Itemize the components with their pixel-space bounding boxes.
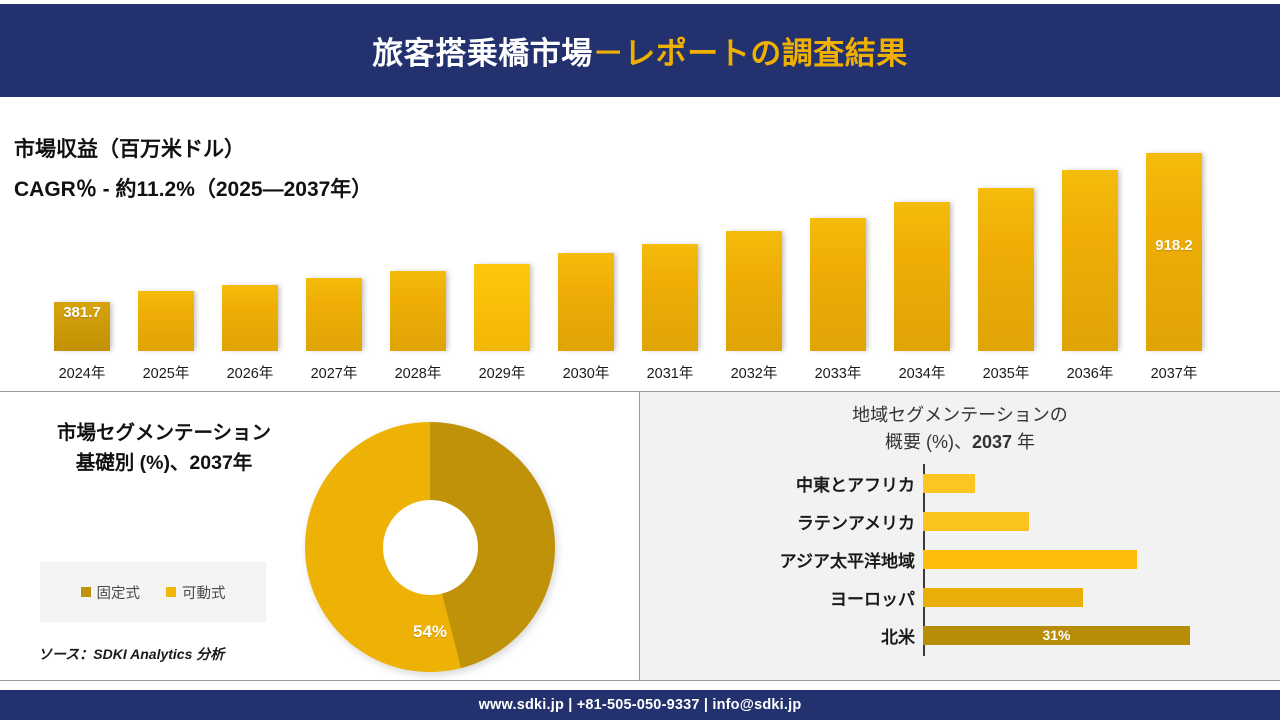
region-row: 北米31% <box>640 616 1280 654</box>
revenue-bar-slot <box>376 146 460 351</box>
footer-contact-text: www.sdki.jp | +81-505-050-9337 | info@sd… <box>479 697 802 713</box>
donut-hole <box>383 500 478 595</box>
revenue-bar[interactable] <box>390 271 446 351</box>
revenue-bar-slot: 381.7 <box>40 146 124 351</box>
region-bar-value: 31% <box>923 626 1190 645</box>
legend-label-fixed: 固定式 <box>97 582 141 603</box>
region-label: ラテンアメリカ <box>640 509 923 534</box>
region-bar[interactable] <box>923 588 1083 607</box>
revenue-bar-label: 2029年 <box>460 362 544 383</box>
revenue-bar-label: 2035年 <box>964 362 1048 383</box>
region-panel: 地域セグメンテーションの 概要 (%)、2037 年 中東とアフリカラテンアメリ… <box>640 392 1280 681</box>
region-bar-wrap <box>923 578 1280 616</box>
revenue-bar-slot <box>544 146 628 351</box>
revenue-bar-slot <box>292 146 376 351</box>
revenue-bar-label: 2034年 <box>880 362 964 383</box>
region-label: 中東とアフリカ <box>640 471 923 496</box>
region-label: アジア太平洋地域 <box>640 547 923 572</box>
region-title-line2: 概要 (%)、2037 年 <box>640 429 1280 456</box>
revenue-bar-label: 2024年 <box>40 362 124 383</box>
revenue-bar[interactable] <box>138 291 194 351</box>
revenue-bar-label: 2028年 <box>376 362 460 383</box>
region-title: 地域セグメンテーションの 概要 (%)、2037 年 <box>640 402 1280 456</box>
region-title-prefix: 概要 (%)、 <box>885 432 972 452</box>
region-row: 中東とアフリカ <box>640 464 1280 502</box>
revenue-bar[interactable]: 918.2 <box>1146 153 1202 351</box>
page-title-accent: －レポートの調査結果 <box>593 36 908 71</box>
revenue-bar-slot <box>712 146 796 351</box>
revenue-bar-slot <box>1048 146 1132 351</box>
region-title-line1: 地域セグメンテーションの <box>640 402 1280 429</box>
revenue-bar[interactable] <box>1062 170 1118 351</box>
revenue-bar-value: 381.7 <box>54 304 110 321</box>
page-header: 旅客搭乗橋市場－レポートの調査結果 <box>0 4 1280 97</box>
region-bar-chart: 中東とアフリカラテンアメリカアジア太平洋地域ヨーロッパ北米31% <box>640 464 1280 664</box>
revenue-bar[interactable] <box>642 244 698 351</box>
segmentation-title-line2: 基礎別 (%)、2037年 <box>14 448 314 478</box>
legend-swatch-icon <box>166 587 176 597</box>
segmentation-title: 市場セグメンテーション 基礎別 (%)、2037年 <box>14 418 314 478</box>
revenue-bar-label: 2037年 <box>1132 362 1216 383</box>
revenue-bar-slot <box>460 146 544 351</box>
legend-item-mobile[interactable]: 可動式 <box>166 582 226 603</box>
region-row: ヨーロッパ <box>640 578 1280 616</box>
region-label: 北米 <box>640 623 923 648</box>
revenue-bar-slot <box>124 146 208 351</box>
segmentation-panel: 市場セグメンテーション 基礎別 (%)、2037年 固定式 可動式 54% ソー… <box>0 392 640 681</box>
revenue-bar-slot: 918.2 <box>1132 146 1216 351</box>
revenue-chart-panel: 市場収益（百万米ドル） CAGR％ - 約11.2%（2025―2037年） 3… <box>0 97 1280 392</box>
region-bar-wrap: 31% <box>923 616 1280 654</box>
region-bar[interactable] <box>923 550 1137 569</box>
revenue-axis-labels: 2024年2025年2026年2027年2028年2029年2030年2031年… <box>40 362 1240 383</box>
page-title: 旅客搭乗橋市場－レポートの調査結果 <box>372 28 908 73</box>
region-title-year: 2037 <box>972 432 1012 452</box>
revenue-bars-area: 381.7918.2 2024年2025年2026年2027年2028年2029… <box>40 133 1240 391</box>
revenue-bar-slot <box>796 146 880 351</box>
revenue-bar-slot <box>208 146 292 351</box>
revenue-bar[interactable] <box>474 264 530 351</box>
segmentation-title-line1: 市場セグメンテーション <box>14 418 314 448</box>
revenue-bar-label: 2032年 <box>712 362 796 383</box>
donut-slice-label: 54% <box>413 622 447 642</box>
revenue-bar-label: 2030年 <box>544 362 628 383</box>
revenue-bar-label: 2025年 <box>124 362 208 383</box>
page-footer: www.sdki.jp | +81-505-050-9337 | info@sd… <box>0 690 1280 720</box>
source-note: ソース：SDKI Analytics 分析 <box>38 644 224 664</box>
revenue-bars-row: 381.7918.2 <box>40 146 1240 351</box>
region-bar-wrap <box>923 464 1280 502</box>
revenue-bar-slot <box>628 146 712 351</box>
region-bar[interactable] <box>923 474 975 493</box>
legend-label-mobile: 可動式 <box>182 582 226 603</box>
region-bar[interactable] <box>923 512 1029 531</box>
segmentation-legend: 固定式 可動式 <box>40 562 266 622</box>
revenue-bar-label: 2026年 <box>208 362 292 383</box>
revenue-bar[interactable] <box>306 278 362 351</box>
revenue-bar[interactable] <box>810 218 866 351</box>
revenue-bar-label: 2033年 <box>796 362 880 383</box>
region-bar[interactable]: 31% <box>923 626 1190 645</box>
region-label: ヨーロッパ <box>640 585 923 610</box>
revenue-bar[interactable] <box>726 231 782 351</box>
revenue-bar[interactable] <box>894 202 950 351</box>
revenue-bar-value: 918.2 <box>1146 237 1202 254</box>
region-bar-wrap <box>923 540 1280 578</box>
region-row: ラテンアメリカ <box>640 502 1280 540</box>
region-bar-wrap <box>923 502 1280 540</box>
revenue-bar-label: 2036年 <box>1048 362 1132 383</box>
region-title-suffix: 年 <box>1012 432 1035 452</box>
revenue-bar-slot <box>964 146 1048 351</box>
revenue-bar-slot <box>880 146 964 351</box>
legend-swatch-icon <box>81 587 91 597</box>
page-title-main: 旅客搭乗橋市場 <box>372 36 593 71</box>
revenue-bar[interactable]: 381.7 <box>54 302 110 351</box>
revenue-bar-label: 2027年 <box>292 362 376 383</box>
donut-chart: 54% <box>305 422 555 672</box>
revenue-bar-label: 2031年 <box>628 362 712 383</box>
legend-item-fixed[interactable]: 固定式 <box>81 582 141 603</box>
revenue-bar[interactable] <box>978 188 1034 351</box>
revenue-bar[interactable] <box>558 253 614 351</box>
revenue-bar[interactable] <box>222 285 278 351</box>
region-row: アジア太平洋地域 <box>640 540 1280 578</box>
